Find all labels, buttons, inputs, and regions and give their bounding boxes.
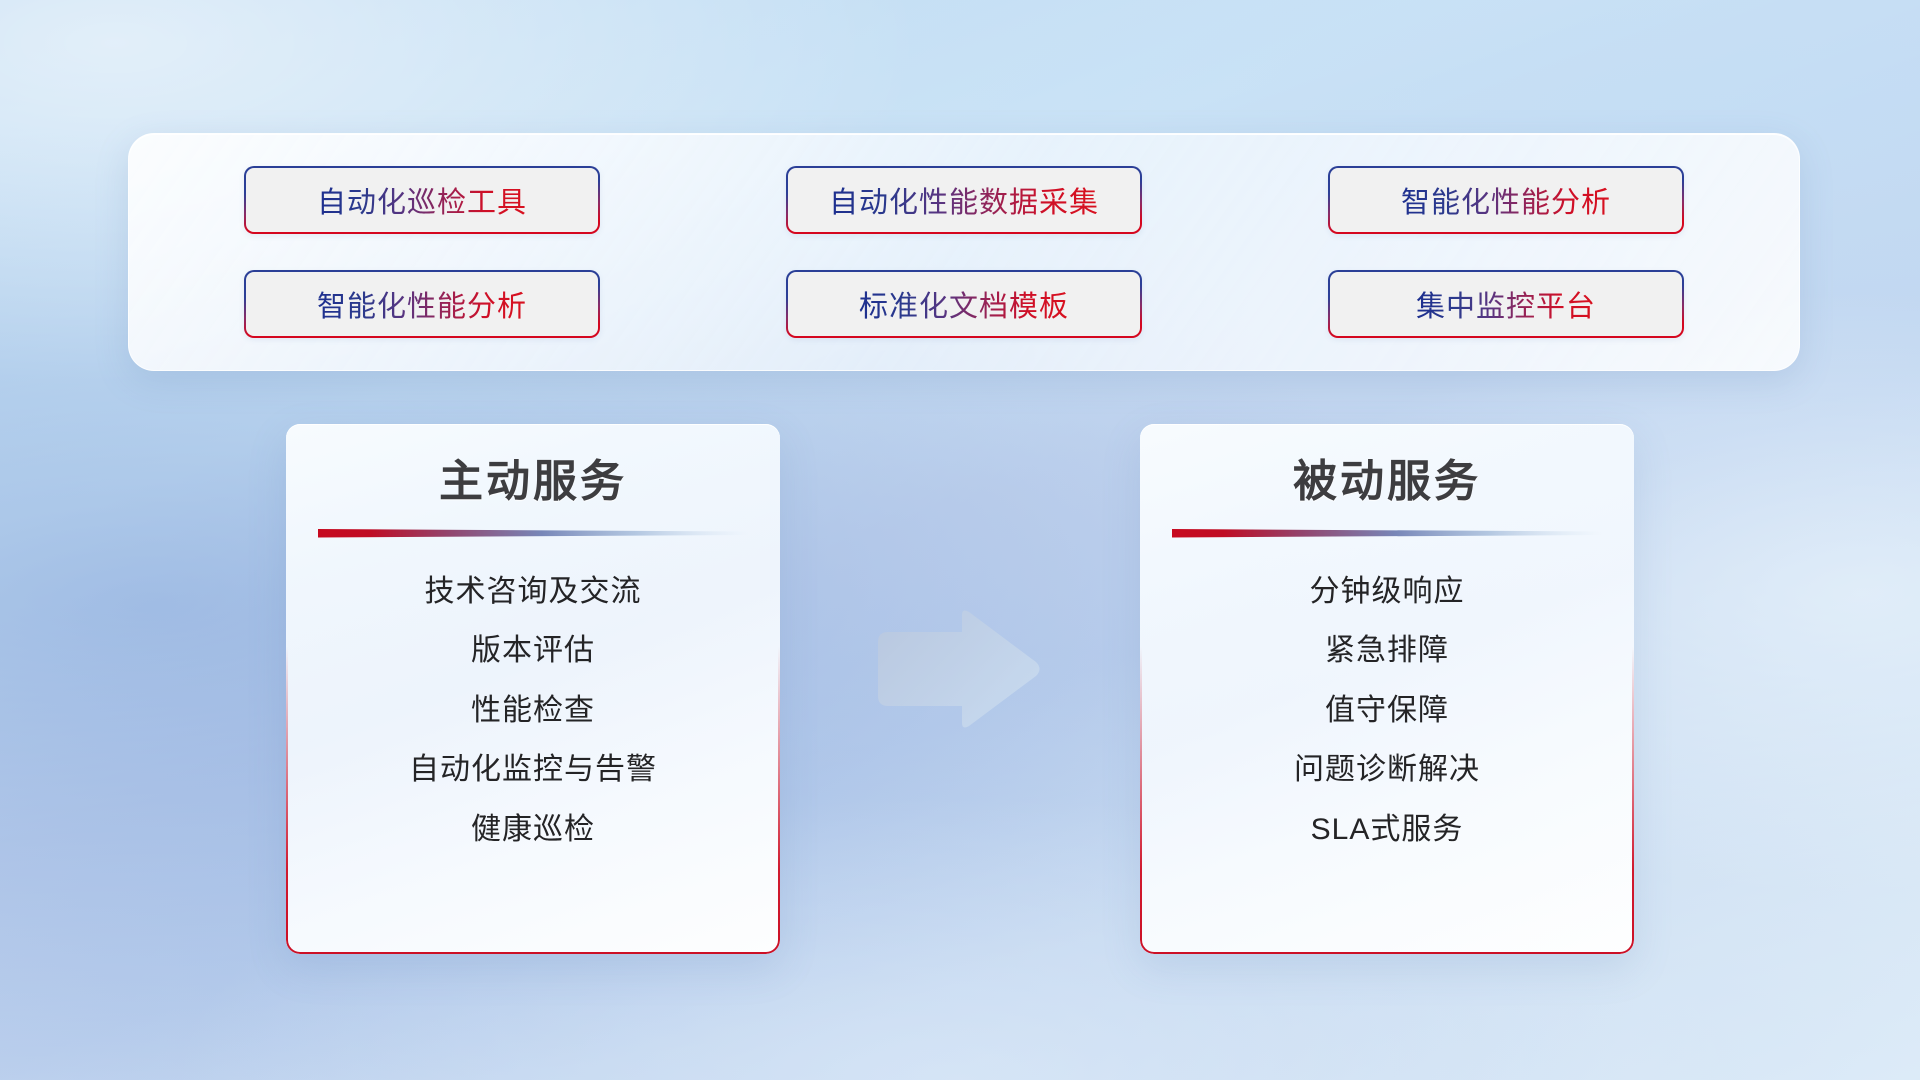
card-title: 主动服务 (439, 456, 627, 509)
service-list-item: 健康巡检 (471, 811, 595, 849)
service-item-list: 技术咨询及交流 版本评估 性能检查 自动化监控与告警 健康巡检 (286, 539, 780, 849)
capability-chip-grid: 自动化巡检工具 自动化性能数据采集 智能化性能分析 智能化性能分析 标准化文档模… (129, 134, 1799, 370)
card-divider (1172, 527, 1602, 539)
service-card-passive[interactable]: 被动服务 (1140, 424, 1634, 954)
diagram-canvas: 自动化巡检工具 自动化性能数据采集 智能化性能分析 智能化性能分析 标准化文档模… (0, 0, 1920, 1080)
service-list-item: 技术咨询及交流 (425, 573, 642, 611)
service-list-item: 分钟级响应 (1310, 573, 1465, 611)
capability-chip-label: 自动化巡检工具 (317, 179, 527, 221)
capability-chip[interactable]: 智能化性能分析 (244, 270, 600, 338)
capability-chip-label: 自动化性能数据采集 (829, 179, 1099, 221)
capability-chip-label: 标准化文档模板 (859, 283, 1069, 325)
capability-chip[interactable]: 智能化性能分析 (1328, 166, 1684, 234)
service-list-item: 版本评估 (471, 632, 595, 670)
service-list-item: 性能检查 (471, 692, 595, 730)
capability-panel: 自动化巡检工具 自动化性能数据采集 智能化性能分析 智能化性能分析 标准化文档模… (128, 133, 1800, 371)
service-list-item: SLA式服务 (1311, 811, 1464, 849)
capability-chip-label: 集中监控平台 (1416, 283, 1596, 325)
card-title: 被动服务 (1293, 456, 1481, 509)
capability-chip[interactable]: 标准化文档模板 (786, 270, 1142, 338)
arrow-right-icon (866, 610, 1042, 728)
capability-chip[interactable]: 集中监控平台 (1328, 270, 1684, 338)
service-list-item: 问题诊断解决 (1294, 751, 1480, 789)
service-item-list: 分钟级响应 紧急排障 值守保障 问题诊断解决 SLA式服务 (1140, 539, 1634, 849)
card-divider (318, 527, 748, 539)
service-card-active[interactable]: 主动服务 (286, 424, 780, 954)
service-list-item: 自动化监控与告警 (409, 751, 657, 789)
capability-chip-label: 智能化性能分析 (317, 283, 527, 325)
capability-chip[interactable]: 自动化巡检工具 (244, 166, 600, 234)
service-list-item: 紧急排障 (1325, 632, 1449, 670)
capability-chip-label: 智能化性能分析 (1401, 179, 1611, 221)
service-list-item: 值守保障 (1325, 692, 1449, 730)
capability-chip[interactable]: 自动化性能数据采集 (786, 166, 1142, 234)
